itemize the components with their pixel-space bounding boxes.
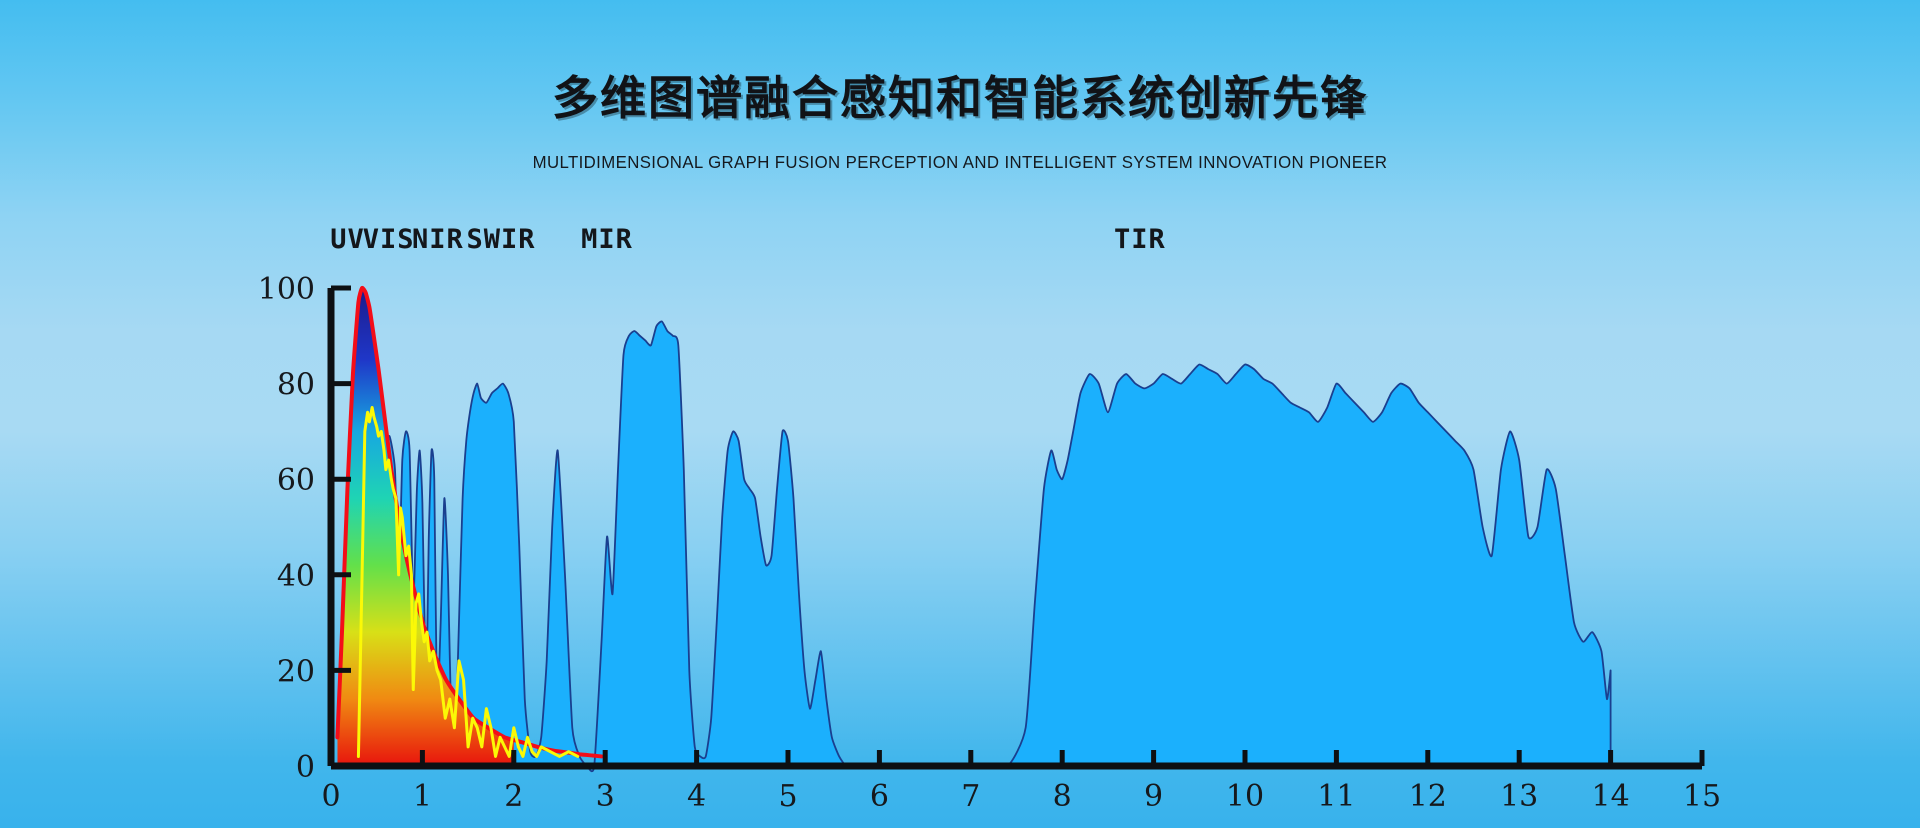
y-tick-label: 100 — [258, 272, 315, 307]
x-tick-label: 5 — [778, 779, 797, 814]
x-tick-label: 10 — [1226, 779, 1264, 814]
band-label-swir: SWIR — [466, 224, 535, 255]
y-axis-tick-labels: 020406080100 — [258, 272, 315, 785]
x-tick-label: 12 — [1409, 779, 1447, 814]
transmission-band-areas — [357, 321, 1611, 771]
x-tick-label: 7 — [961, 779, 980, 814]
x-tick-label: 1 — [413, 779, 432, 814]
x-tick-label: 14 — [1592, 779, 1630, 814]
x-axis-tick-labels: 0123456789101112131415 — [321, 779, 1721, 814]
x-tick-label: 3 — [596, 779, 615, 814]
poster-canvas: 多维图谱融合感知和智能系统创新先锋 MULTIDIMENSIONAL GRAPH… — [0, 0, 1920, 828]
band-label-tir: TIR — [1114, 224, 1166, 255]
x-tick-label: 9 — [1144, 779, 1163, 814]
band-label-mir: MIR — [581, 224, 633, 255]
x-tick-label: 15 — [1683, 779, 1721, 814]
band-label-vis: VIS — [363, 224, 415, 255]
spectrum-chart-svg: 0123456789101112131415 020406080100 UVVI… — [0, 0, 1920, 828]
y-tick-label: 80 — [277, 368, 315, 403]
band-label-nir: NIR — [412, 224, 464, 255]
y-tick-label: 20 — [277, 654, 315, 689]
band-name-labels: UVVISNIRSWIRMIRTIR — [330, 224, 1166, 255]
transmission-area — [357, 321, 1611, 771]
x-tick-label: 0 — [321, 779, 340, 814]
y-tick-label: 0 — [296, 750, 315, 785]
spectrum-chart: 0123456789101112131415 020406080100 UVVI… — [0, 0, 1920, 828]
x-tick-label: 2 — [504, 779, 523, 814]
x-tick-label: 6 — [870, 779, 889, 814]
y-tick-label: 60 — [277, 463, 315, 498]
x-tick-label: 4 — [687, 779, 706, 814]
x-tick-label: 11 — [1317, 779, 1355, 814]
band-label-uv: UV — [330, 224, 365, 255]
x-tick-label: 13 — [1500, 779, 1538, 814]
x-tick-label: 8 — [1053, 779, 1072, 814]
y-tick-label: 40 — [277, 559, 315, 594]
